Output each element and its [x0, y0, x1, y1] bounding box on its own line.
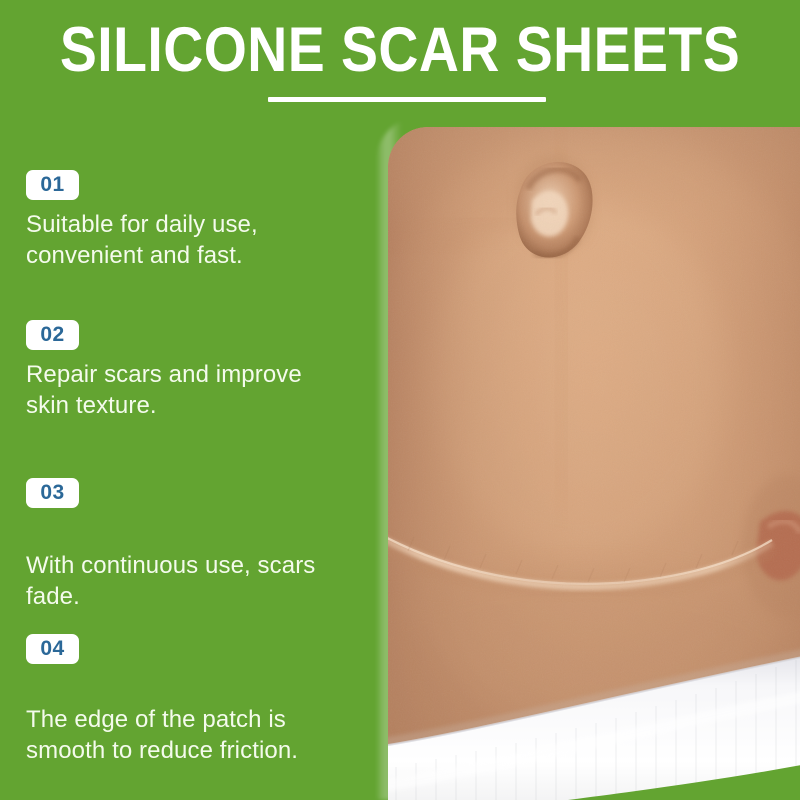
feature-item-02: 02 Repair scars and improve skin texture…: [26, 320, 366, 421]
feature-list: 01 Suitable for daily use, convenient an…: [0, 0, 376, 800]
feature-text-04: The edge of the patch is smooth to reduc…: [26, 704, 366, 766]
feature-text-02: Repair scars and improve skin texture.: [26, 359, 366, 421]
feature-item-04: 04 The edge of the patch is smooth to re…: [26, 634, 366, 766]
page-title: SILICONE SCAR SHEETS: [48, 19, 752, 82]
poster-root: SILICONE SCAR SHEETS 01 Suitable for dai…: [0, 0, 800, 800]
feature-badge-01: 01: [26, 170, 79, 200]
feature-text-03: With continuous use, scars fade.: [26, 550, 366, 612]
feature-badge-04: 04: [26, 634, 79, 664]
feature-text-01: Suitable for daily use, convenient and f…: [26, 209, 366, 271]
feature-badge-02: 02: [26, 320, 79, 350]
header: SILICONE SCAR SHEETS: [0, 0, 800, 120]
feature-item-01: 01 Suitable for daily use, convenient an…: [26, 170, 366, 271]
product-photo-panel: [376, 116, 800, 800]
feature-badge-03: 03: [26, 478, 79, 508]
feature-item-03: 03 With continuous use, scars fade.: [26, 478, 366, 612]
abdomen-scar-photo: [388, 127, 800, 800]
abdomen-scar-illustration: [388, 127, 800, 800]
